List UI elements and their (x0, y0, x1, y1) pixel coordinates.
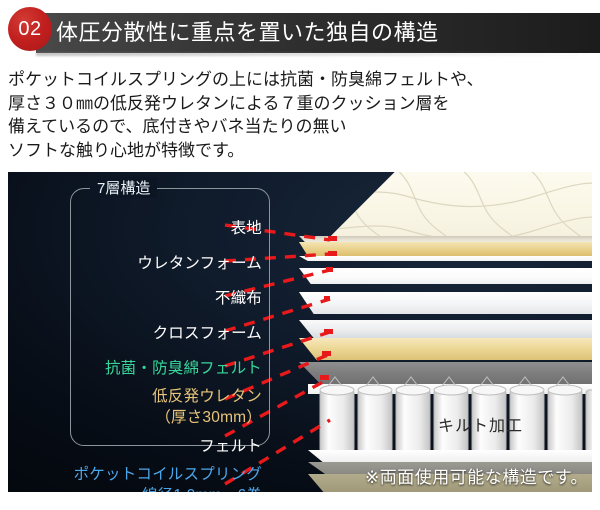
body-copy-line-4: ソフトな触り心地が特徴です。 (8, 139, 592, 163)
legend-title: 7層構造 (90, 177, 157, 198)
body-copy-line-3: 備えているので、底付きやバネ当たりの無い (8, 115, 592, 139)
layer-label-antibacterial-cotton-felt: 抗菌・防臭綿フェルト (105, 356, 262, 378)
layer-label-low-rebound-urethane: 低反発ウレタン (152, 384, 262, 406)
body-copy-line-1: ポケットコイルスプリングの上には抗菌・防臭綿フェルトや、 (8, 68, 592, 92)
layer-label-surface-fabric: 表地 (231, 216, 262, 238)
both-sides-caption: ※両面使用可能な構造です。 (365, 463, 588, 488)
layer-label-urethane-foam: ウレタンフォーム (137, 251, 262, 273)
layer-label-low-rebound-urethane-thickness: （厚さ30mm） (155, 405, 262, 427)
body-copy-line-2: 厚さ３０㎜の低反発ウレタンによる７重のクッション層を (8, 92, 592, 116)
layer-label-felt: フェルト (199, 434, 262, 456)
mattress-structure-diagram: キルト加工 7層構造 表地 ウレタンフォーム 不織布 クロスフォーム 抗菌・防臭… (8, 172, 592, 492)
layer-label-cross-foam: クロスフォーム (153, 321, 262, 343)
layer-label-nonwoven-fabric: 不織布 (215, 286, 262, 308)
body-copy: ポケットコイルスプリングの上には抗菌・防臭綿フェルトや、 厚さ３０㎜の低反発ウレ… (8, 68, 592, 162)
section-header: 体圧分散性に重点を置いた独自の構造 02 (0, 0, 600, 62)
page-title: 体圧分散性に重点を置いた独自の構造 (56, 16, 576, 50)
spring-label-line-2: 線径1.9mm 6巻 (142, 483, 262, 492)
spring-label-line-1: ポケットコイルスプリング (74, 462, 262, 484)
section-number-badge: 02 (8, 7, 52, 51)
